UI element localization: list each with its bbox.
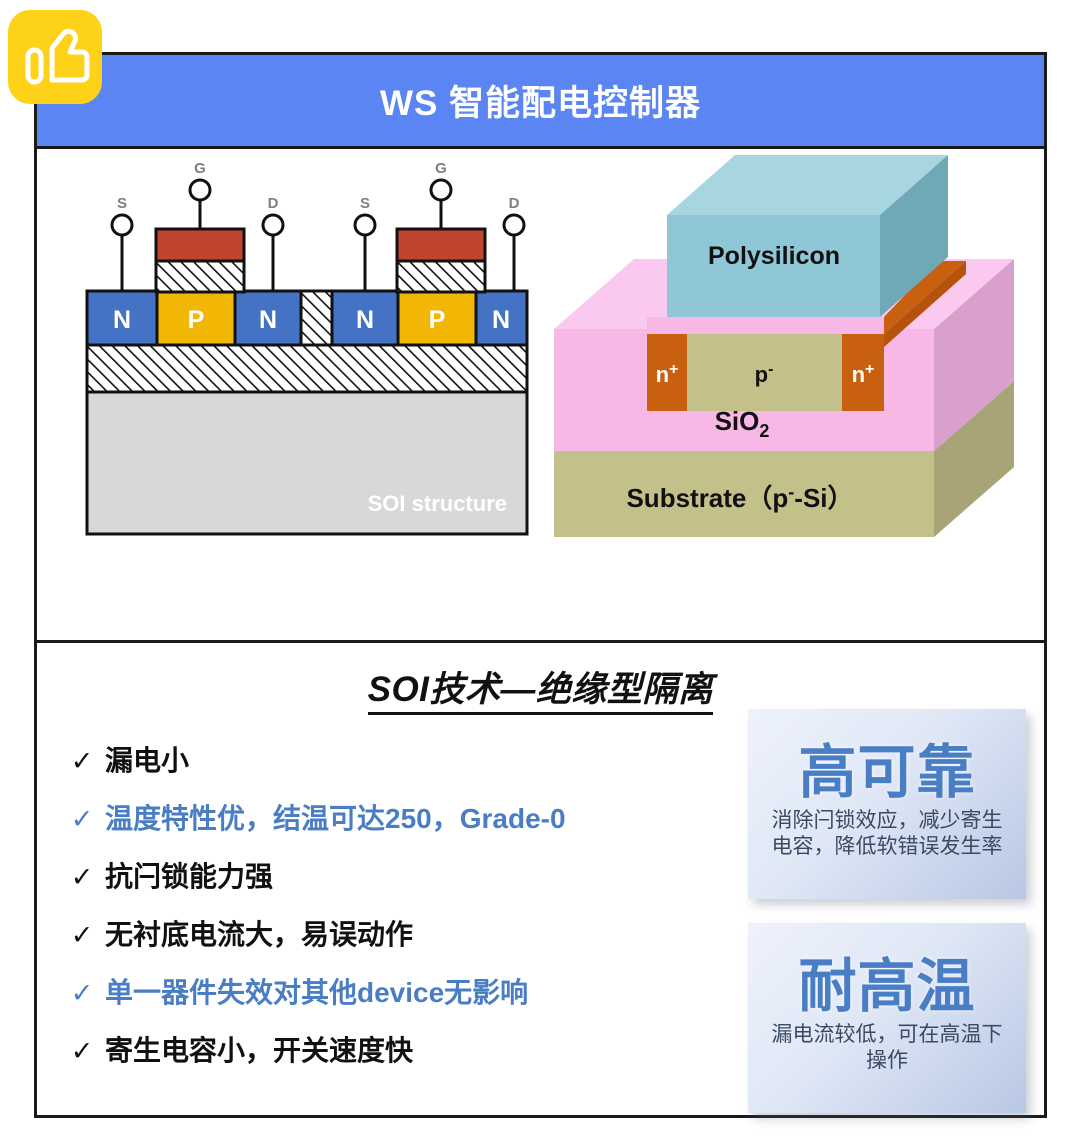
list-item: ✓ 无衬底电流大，易误动作 (59, 921, 719, 963)
feature-list: ✓ 漏电小 ✓ 温度特性优，结温可达250，Grade-0 ✓ 抗闩锁能力强 ✓… (59, 747, 719, 1095)
list-item: ✓ 单一器件失效对其他device无影响 (59, 979, 719, 1021)
substrate-label: Substrate（p--Si） (626, 482, 853, 513)
highlight-cards: 高可靠 消除闩锁效应，减少寄生电容，降低软错误发生率 耐高温 漏电流较低，可在高… (748, 709, 1026, 1137)
check-icon: ✓ (59, 980, 105, 1007)
list-item: ✓ 漏电小 (59, 747, 719, 789)
card-heading: 高可靠 (798, 743, 975, 804)
list-item-label: 温度特性优，结温可达250，Grade-0 (105, 805, 566, 833)
svg-text:N: N (356, 306, 374, 334)
page-title: WS 智能配电控制器 (380, 75, 701, 126)
lower-content-area: SOI技术—绝缘型隔离 ✓ 漏电小 ✓ 温度特性优，结温可达250，Grade-… (37, 643, 1044, 1115)
thumbs-up-badge (8, 10, 102, 104)
list-item: ✓ 温度特性优，结温可达250，Grade-0 (59, 805, 719, 847)
list-item: ✓ 抗闩锁能力强 (59, 863, 719, 905)
card-description: 漏电流较低，可在高温下操作 (762, 1022, 1012, 1075)
svg-text:P: P (429, 306, 446, 334)
svg-text:S: S (360, 195, 370, 212)
svg-text:S: S (117, 195, 127, 212)
check-icon: ✓ (59, 864, 105, 891)
soi-substrate-label: SOI structure (368, 491, 507, 516)
svg-text:G: G (435, 160, 447, 177)
svg-text:N: N (113, 306, 131, 334)
polysilicon-label: Polysilicon (708, 242, 840, 270)
svg-text:G: G (194, 160, 206, 177)
check-icon: ✓ (59, 1038, 105, 1065)
list-item-label: 单一器件失效对其他device无影响 (105, 979, 528, 1007)
header-bar: WS 智能配电控制器 (37, 55, 1044, 149)
list-item-label: 寄生电容小，开关速度快 (105, 1037, 413, 1065)
check-icon: ✓ (59, 748, 105, 775)
highlight-card-high-temperature: 耐高温 漏电流较低，可在高温下操作 (748, 923, 1026, 1113)
slide-frame: WS 智能配电控制器 SOI structure N P N (34, 52, 1047, 1118)
svg-text:P: P (188, 306, 205, 334)
list-item-label: 无衬底电流大，易误动作 (105, 921, 413, 949)
svg-text:D: D (268, 195, 279, 212)
thumbs-up-icon (8, 10, 102, 104)
card-heading: 耐高温 (798, 957, 975, 1018)
card-description: 消除闩锁效应，减少寄生电容，降低软错误发生率 (762, 808, 1012, 861)
list-item-label: 抗闩锁能力强 (105, 863, 273, 891)
section-subtitle-text: SOI技术—绝缘型隔离 (368, 670, 714, 715)
diagram-area: SOI structure N P N N P N (37, 149, 1044, 643)
highlight-card-reliability: 高可靠 消除闩锁效应，减少寄生电容，降低软错误发生率 (748, 709, 1026, 899)
section-subtitle: SOI技术—绝缘型隔离 (37, 661, 1044, 712)
svg-text:N: N (492, 306, 510, 334)
soi-cross-section-diagram: SOI structure N P N N P N (77, 159, 537, 579)
check-icon: ✓ (59, 922, 105, 949)
soi-3d-device-diagram: Polysilicon n+ p- n+ SiO2 Substrate（p--S… (542, 149, 1042, 569)
svg-text:D: D (509, 195, 520, 212)
check-icon: ✓ (59, 806, 105, 833)
list-item-label: 漏电小 (105, 747, 189, 775)
list-item: ✓ 寄生电容小，开关速度快 (59, 1037, 719, 1079)
svg-text:N: N (259, 306, 277, 334)
